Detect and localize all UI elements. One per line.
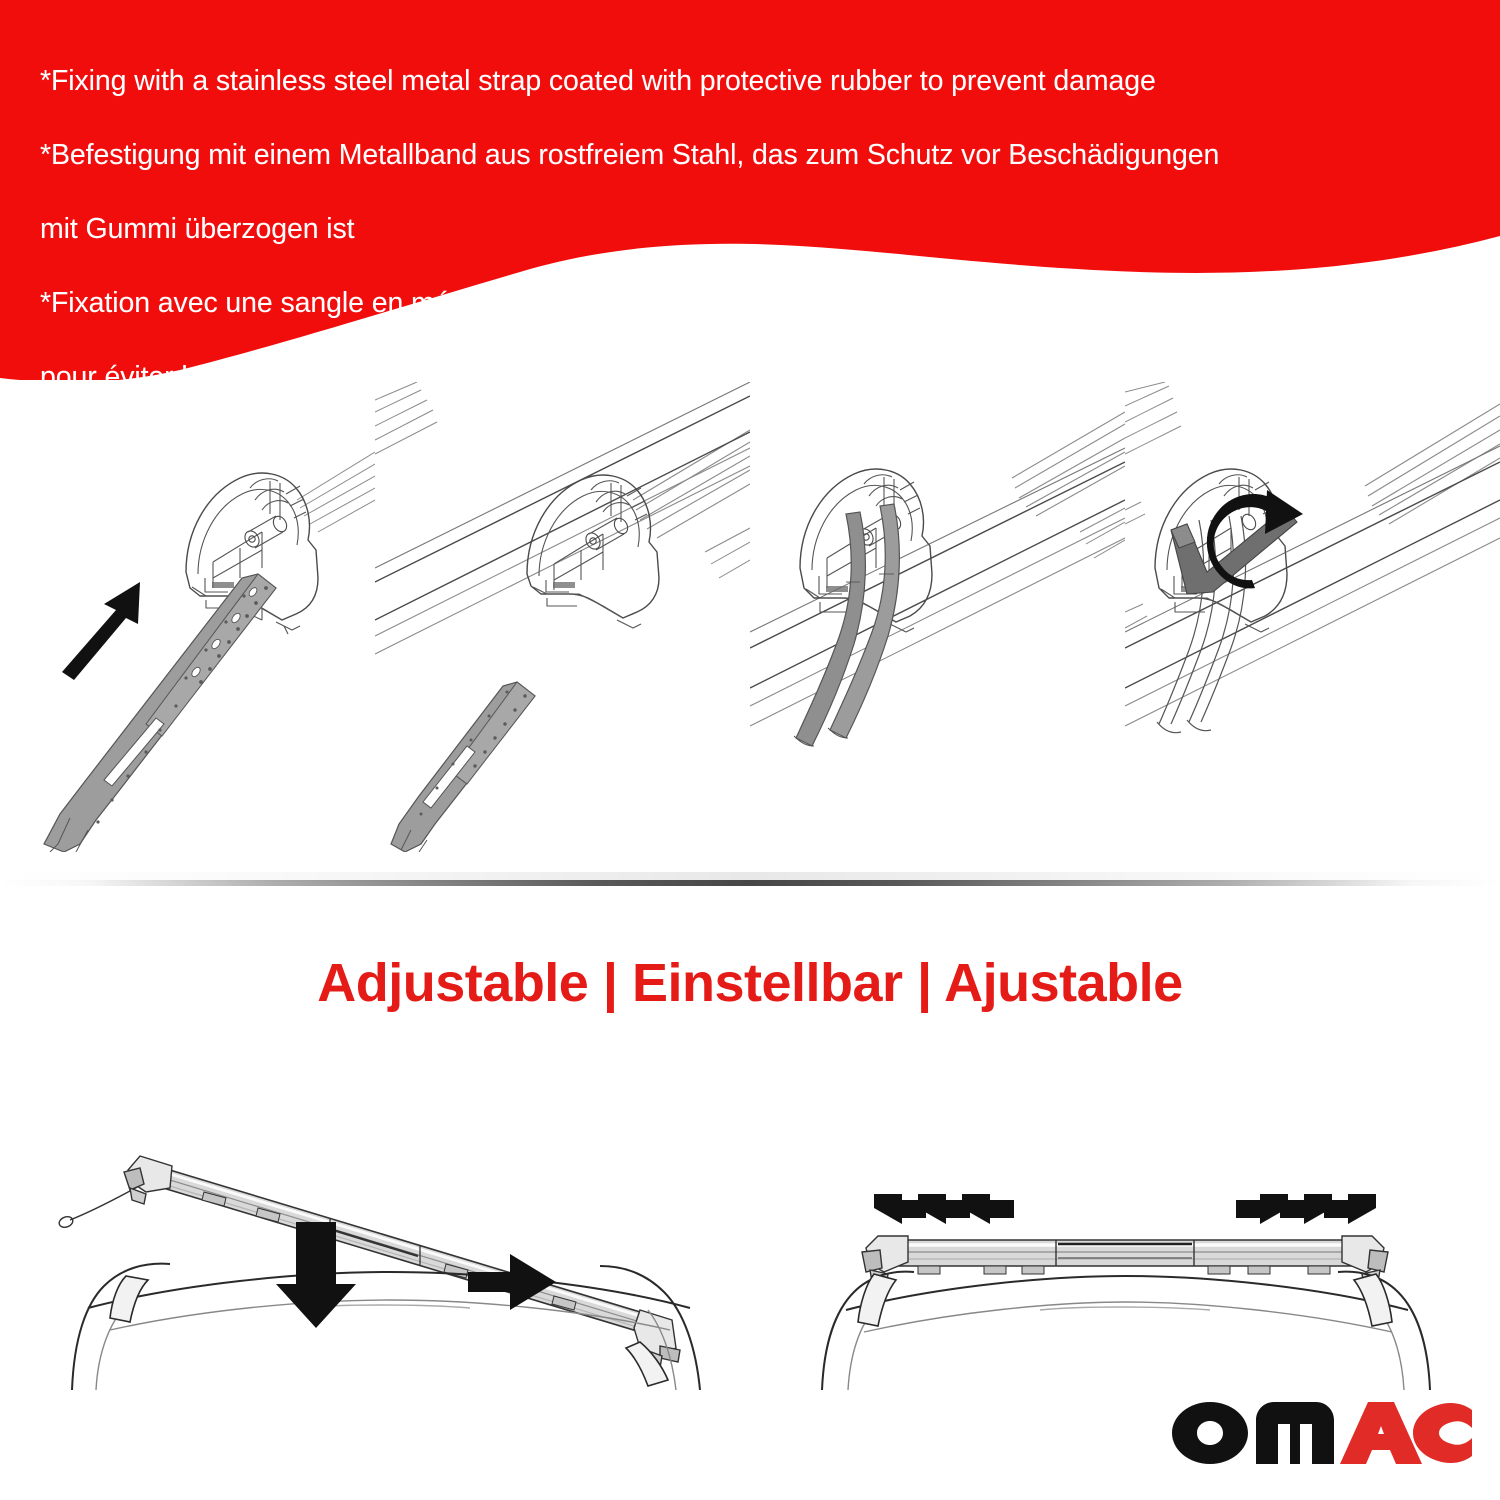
step-1-illustration: [0, 382, 375, 852]
step-4-illustration: [1125, 382, 1500, 852]
step-2-illustration: [375, 382, 750, 852]
header-banner: *Fixing with a stainless steel metal str…: [0, 0, 1500, 380]
strap-wrapped-around-rail-diagram: [750, 382, 1125, 852]
rack-foot-with-strap-diagram: [0, 382, 375, 852]
logo-letter-c: [1413, 1403, 1472, 1463]
metal-strap: [44, 574, 276, 852]
banner-line-4: *Fixation avec une sangle en métal inoxy…: [40, 285, 1470, 322]
logo-letter-m: [1256, 1402, 1334, 1464]
banner-text-block: *Fixing with a stainless steel metal str…: [40, 26, 1470, 434]
omac-logo-mark: [1172, 1402, 1472, 1464]
triple-right-arrow: [1236, 1194, 1376, 1224]
triple-left-arrow: [874, 1194, 1014, 1224]
wrapped-strap: [794, 504, 899, 746]
up-arrow: [62, 582, 140, 680]
page-title: Adjustable | Einstellbar | Ajustable: [0, 952, 1500, 1014]
section-divider: [0, 880, 1500, 886]
metal-strap: [391, 682, 535, 852]
step-3-illustration: [750, 382, 1125, 852]
logo-letter-o: [1172, 1402, 1248, 1464]
banner-line-1: *Fixing with a stainless steel metal str…: [40, 63, 1470, 100]
installation-steps-strip: [0, 382, 1500, 852]
strap-below-rail-diagram: [375, 382, 750, 852]
tighten-bolt-with-allen-key-diagram: [1125, 382, 1500, 852]
omac-logo: [1172, 1402, 1472, 1464]
banner-line-3: mit Gummi überzogen ist: [40, 211, 1470, 248]
adjustable-figures: [0, 1060, 1500, 1390]
logo-letter-a: [1340, 1402, 1422, 1464]
banner-line-2: *Befestigung mit einem Metallband aus ro…: [40, 137, 1470, 174]
fig-place-crossbar: [0, 1060, 750, 1390]
lower-and-slide-crossbar-diagram: [0, 1060, 750, 1390]
extend-crossbar-diagram: [750, 1060, 1500, 1390]
fig-extend-crossbar: [750, 1060, 1500, 1390]
